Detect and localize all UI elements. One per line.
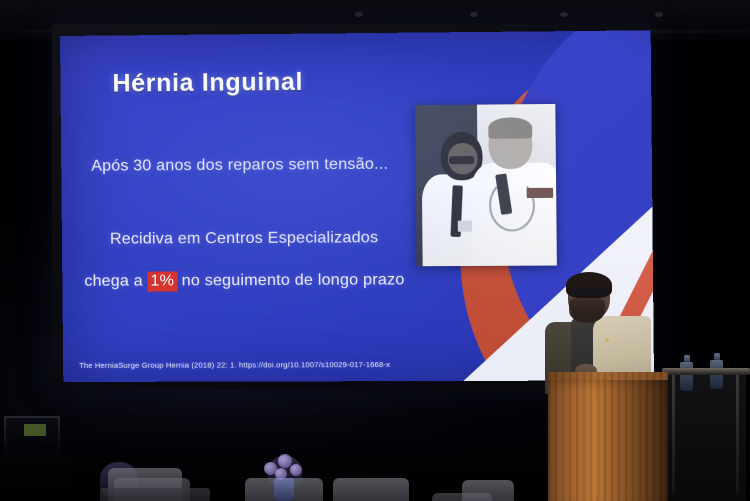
speaker-lapel-pin bbox=[605, 338, 609, 342]
ceiling-spotlight bbox=[560, 12, 568, 17]
speaker-beard bbox=[569, 298, 605, 323]
side-table-body bbox=[666, 375, 746, 501]
slide-line-one-percent: chega a 1% no seguimento de longo prazo bbox=[84, 271, 404, 291]
stage-chair-seat bbox=[100, 488, 210, 501]
podium-wood-grain bbox=[548, 372, 668, 501]
ceiling-spotlight bbox=[470, 12, 478, 17]
ceiling-spotlight bbox=[355, 12, 363, 17]
wooden-podium bbox=[548, 372, 668, 501]
side-table-top bbox=[662, 368, 750, 375]
line-c-prefix: chega a bbox=[84, 273, 147, 290]
line-c-suffix: no seguimento de longo prazo bbox=[177, 271, 405, 289]
flower-arrangement bbox=[258, 452, 310, 501]
side-table-leg bbox=[736, 375, 739, 495]
flower-bloom bbox=[275, 468, 287, 480]
speaker-glasses bbox=[569, 288, 607, 296]
side-table-leg bbox=[672, 375, 675, 495]
water-bottle bbox=[680, 362, 693, 391]
photo-right-figure-hair bbox=[488, 117, 532, 138]
slide-line-recurrence-centers: Recidiva em Centros Especializados bbox=[110, 229, 379, 249]
conference-photo: H Sociedade Hérnia Inguinal Após 30 anos… bbox=[0, 0, 750, 501]
side-table bbox=[662, 368, 750, 501]
stage-chair bbox=[432, 493, 492, 501]
slide-title: Hérnia Inguinal bbox=[112, 68, 303, 99]
slide-line-after-30-years: Após 30 anos dos reparos sem tensão... bbox=[91, 156, 388, 176]
ceiling-spotlight bbox=[655, 12, 663, 17]
photo-right-figure-stethoscope bbox=[489, 178, 536, 231]
slide-highlight-percentage: 1% bbox=[147, 271, 177, 291]
photo-left-figure-glasses bbox=[449, 156, 474, 164]
slide-citation: The HerniaSurge Group Hernia (2018) 22: … bbox=[79, 360, 390, 370]
flower-bloom bbox=[290, 464, 302, 476]
slide-photo-surgeons bbox=[415, 104, 557, 266]
flower-vase bbox=[274, 478, 294, 501]
exit-sign bbox=[24, 424, 46, 436]
stage-chair bbox=[333, 478, 409, 501]
photo-right-figure-nametag bbox=[527, 188, 554, 198]
